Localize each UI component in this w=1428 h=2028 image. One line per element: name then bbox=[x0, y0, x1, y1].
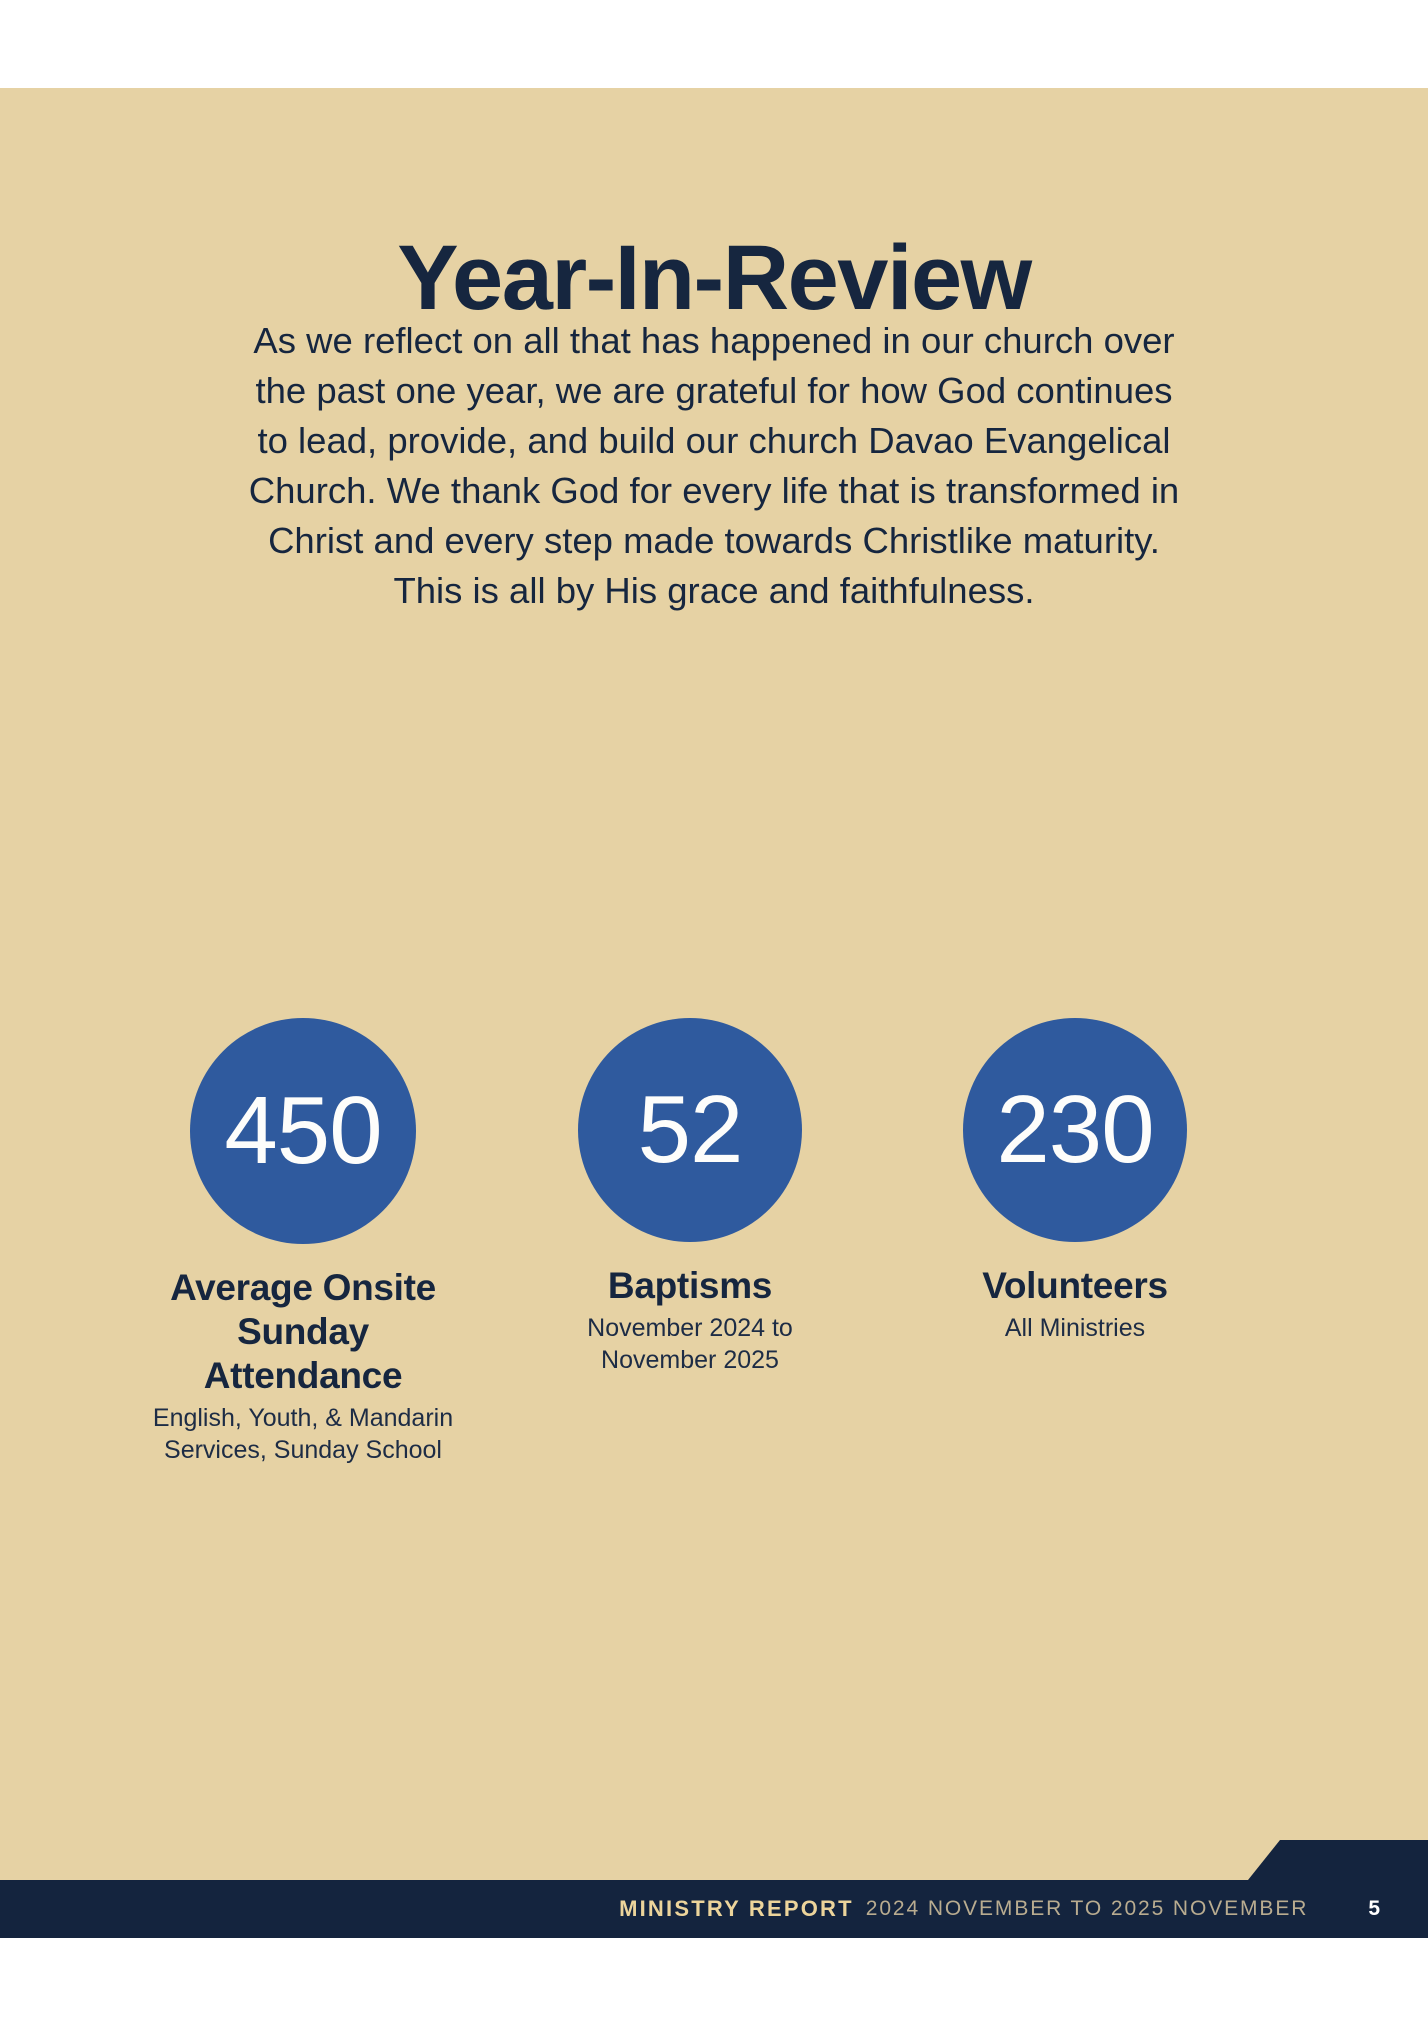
stat-title-attendance: Average Onsite Sunday Attendance bbox=[138, 1266, 468, 1398]
footer-bar: MINISTRY REPORT 2024 NOVEMBER TO 2025 NO… bbox=[0, 1880, 1428, 1938]
stat-title-baptisms: Baptisms bbox=[540, 1264, 840, 1308]
stat-value-volunteers: 230 bbox=[996, 1082, 1153, 1178]
intro-line: to lead, provide, and build our church D… bbox=[88, 416, 1340, 466]
stat-value-attendance: 450 bbox=[224, 1083, 381, 1179]
page-sheet: Year-In-Review As we reflect on all that… bbox=[0, 88, 1428, 1938]
footer-date-range: 2024 NOVEMBER TO 2025 NOVEMBER bbox=[866, 1897, 1309, 1921]
stat-value-baptisms: 52 bbox=[638, 1082, 743, 1178]
intro-paragraph: As we reflect on all that has happened i… bbox=[88, 316, 1340, 616]
stat-card-attendance: 450 Average Onsite Sunday Attendance Eng… bbox=[138, 1018, 468, 1466]
stat-card-volunteers: 230 Volunteers All Ministries bbox=[925, 1018, 1225, 1344]
stat-title-volunteers: Volunteers bbox=[925, 1264, 1225, 1308]
stat-subtitle-volunteers: All Ministries bbox=[925, 1312, 1225, 1344]
stat-circle-baptisms: 52 bbox=[578, 1018, 802, 1242]
stat-card-baptisms: 52 Baptisms November 2024 to November 20… bbox=[540, 1018, 840, 1376]
page-root: Year-In-Review As we reflect on all that… bbox=[0, 0, 1428, 2028]
stat-circle-volunteers: 230 bbox=[963, 1018, 1187, 1242]
stats-row: 450 Average Onsite Sunday Attendance Eng… bbox=[110, 1018, 1320, 1498]
stat-subtitle-baptisms: November 2024 to November 2025 bbox=[540, 1312, 840, 1376]
intro-line: This is all by His grace and faithfulnes… bbox=[88, 566, 1340, 616]
page-title: Year-In-Review bbox=[0, 232, 1428, 324]
footer-page-number: 5 bbox=[1368, 1897, 1380, 1921]
stat-subtitle-attendance: English, Youth, & Mandarin Services, Sun… bbox=[138, 1402, 468, 1466]
footer-corner-accent bbox=[1248, 1840, 1428, 1880]
intro-line: Christ and every step made towards Chris… bbox=[88, 516, 1340, 566]
footer-label: MINISTRY REPORT bbox=[619, 1896, 854, 1922]
intro-line: Church. We thank God for every life that… bbox=[88, 466, 1340, 516]
stat-circle-attendance: 450 bbox=[190, 1018, 416, 1244]
intro-line: the past one year, we are grateful for h… bbox=[88, 366, 1340, 416]
intro-line: As we reflect on all that has happened i… bbox=[88, 316, 1340, 366]
